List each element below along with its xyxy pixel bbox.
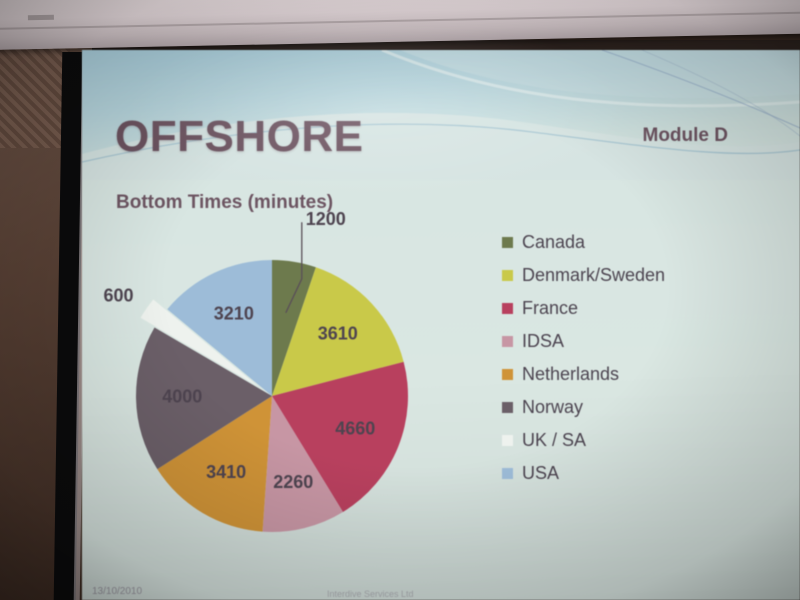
legend-item-label: IDSA	[522, 331, 564, 352]
module-label: Module D	[643, 125, 729, 147]
legend-color-swatch	[502, 468, 513, 479]
projected-slide: OFFSHORE Module D Bottom Times (minutes)…	[82, 50, 800, 600]
legend-item-idsa: IDSA	[502, 325, 772, 358]
wall-texture-patch	[0, 38, 70, 148]
projector-screen-roller-casing	[0, 0, 800, 50]
legend-item-label: UK / SA	[522, 430, 586, 451]
slide-footer-date: 13/10/2010	[92, 586, 142, 597]
legend-item-label: Denmark/Sweden	[522, 265, 665, 286]
legend-item-denmark-sweden: Denmark/Sweden	[502, 259, 772, 292]
legend-item-label: France	[522, 298, 578, 319]
legend-item-label: Norway	[522, 397, 583, 418]
slide-footer-credit: Interdive Services Ltd	[327, 589, 414, 599]
legend-color-swatch	[502, 303, 513, 314]
pie-slice-value-label: 1200	[306, 209, 346, 229]
legend-item-canada: Canada	[502, 226, 772, 259]
chart-legend: CanadaDenmark/SwedenFranceIDSANetherland…	[502, 226, 772, 490]
pie-chart: 1200361046602260341040006003210	[110, 218, 450, 558]
roller-seam-line	[0, 11, 800, 30]
pie-slice-value-label: 3210	[214, 304, 254, 324]
pie-slice-value-label: 600	[103, 286, 133, 306]
legend-item-uk-sa: UK / SA	[502, 424, 772, 457]
legend-color-swatch	[502, 336, 513, 347]
legend-item-label: Canada	[522, 232, 585, 253]
pie-slice-value-label: 4660	[335, 418, 375, 438]
pie-chart-svg: 1200361046602260341040006003210	[110, 218, 450, 558]
legend-item-norway: Norway	[502, 391, 772, 424]
legend-color-swatch	[502, 402, 513, 413]
pie-slice-value-label: 3410	[206, 462, 246, 482]
projector-photo-scene: OFFSHORE Module D Bottom Times (minutes)…	[0, 0, 800, 600]
legend-color-swatch	[502, 237, 513, 248]
legend-color-swatch	[502, 369, 513, 380]
legend-item-france: France	[502, 292, 772, 325]
chart-subtitle: Bottom Times (minutes)	[116, 192, 333, 214]
legend-item-label: Netherlands	[522, 364, 619, 385]
pie-slice-value-label: 2260	[273, 472, 313, 492]
page-title: OFFSHORE	[115, 112, 363, 162]
roller-brand-tag	[28, 15, 54, 21]
legend-item-netherlands: Netherlands	[502, 358, 772, 391]
legend-color-swatch	[502, 270, 513, 281]
pie-slice-value-label: 3610	[318, 324, 358, 344]
legend-item-usa: USA	[502, 457, 772, 490]
pie-slice-value-label: 4000	[162, 387, 202, 407]
legend-color-swatch	[502, 435, 513, 446]
legend-item-label: USA	[522, 463, 559, 484]
